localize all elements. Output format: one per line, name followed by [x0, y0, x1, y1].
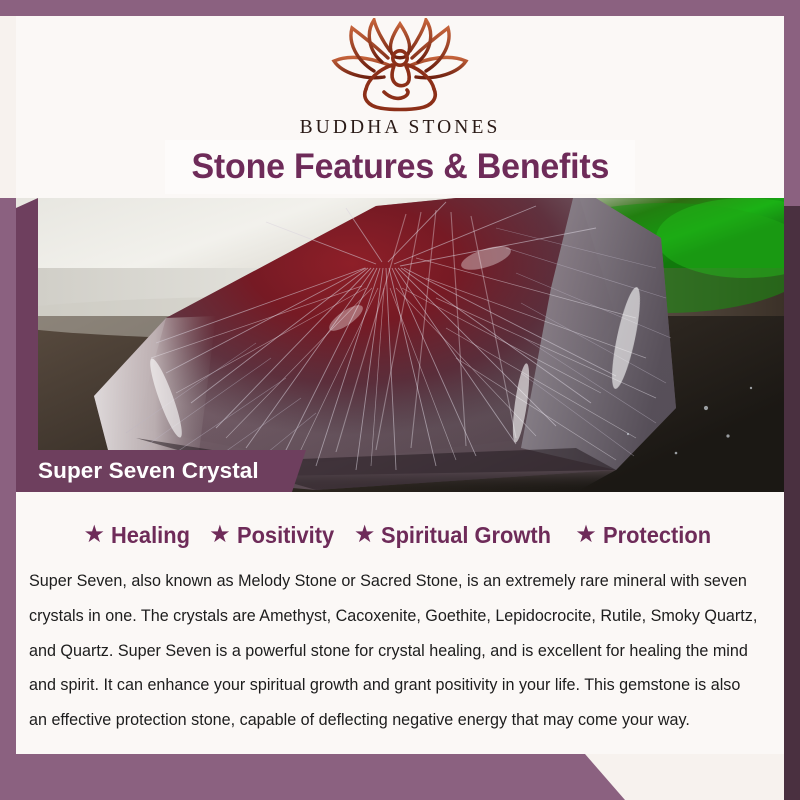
benefit-item-positivity: ★ Positivity: [209, 522, 339, 549]
star-icon: ★: [575, 523, 597, 547]
brand-logo: BUDDHA STONES: [0, 18, 800, 139]
benefit-item-healing: ★ Healing: [83, 522, 194, 549]
star-icon: ★: [354, 523, 376, 547]
frame-left-accent: [16, 198, 38, 492]
crystal-photo-illustration: [16, 198, 784, 492]
stone-name-label: Super Seven Crystal: [38, 458, 259, 484]
frame-right-bar-lower: [784, 206, 800, 800]
star-icon: ★: [83, 523, 105, 547]
benefit-item-protection: ★ Protection: [575, 522, 716, 549]
benefit-label: Positivity: [237, 522, 334, 549]
description-block: Super Seven, also known as Melody Stone …: [16, 564, 784, 738]
frame-bottom-bar: [0, 754, 625, 800]
star-icon: ★: [209, 523, 231, 547]
benefit-item-spiritual-growth: ★ Spiritual Growth: [354, 522, 560, 549]
stone-name-ribbon: Super Seven Crystal: [16, 450, 306, 492]
frame-left-bar: [0, 198, 16, 800]
lotus-meditation-figure-icon: [312, 18, 488, 114]
benefit-label: Spiritual Growth: [381, 522, 551, 549]
frame-right-bar: [784, 16, 800, 206]
description-paragraph: Super Seven, also known as Melody Stone …: [29, 564, 760, 738]
frame-top-bar: [0, 0, 800, 16]
page-title: Stone Features & Benefits: [191, 147, 609, 187]
brand-name: BUDDHA STONES: [300, 117, 501, 139]
page-title-banner: Stone Features & Benefits: [165, 140, 635, 194]
stone-photo: [16, 198, 784, 492]
benefits-row: ★ Healing ★ Positivity ★ Spiritual Growt…: [16, 522, 784, 549]
benefit-label: Protection: [603, 522, 711, 549]
benefit-label: Healing: [111, 522, 190, 549]
